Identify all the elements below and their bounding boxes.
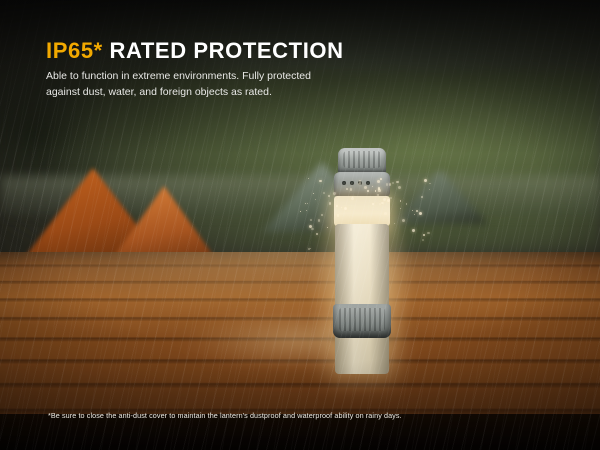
footnote-text: *Be sure to close the anti-dust cover to…: [48, 411, 402, 420]
promo-image: IP65* RATED PROTECTION Able to function …: [0, 0, 600, 450]
subcopy-paragraph: Able to function in extreme environments…: [46, 68, 346, 100]
headline-accent: IP65*: [46, 38, 103, 63]
headline-rest: RATED PROTECTION: [103, 38, 344, 63]
subcopy-line-2: against dust, water, and foreign objects…: [46, 84, 346, 100]
page-title: IP65* RATED PROTECTION: [46, 38, 344, 64]
subcopy-line-1: Able to function in extreme environments…: [46, 68, 346, 84]
